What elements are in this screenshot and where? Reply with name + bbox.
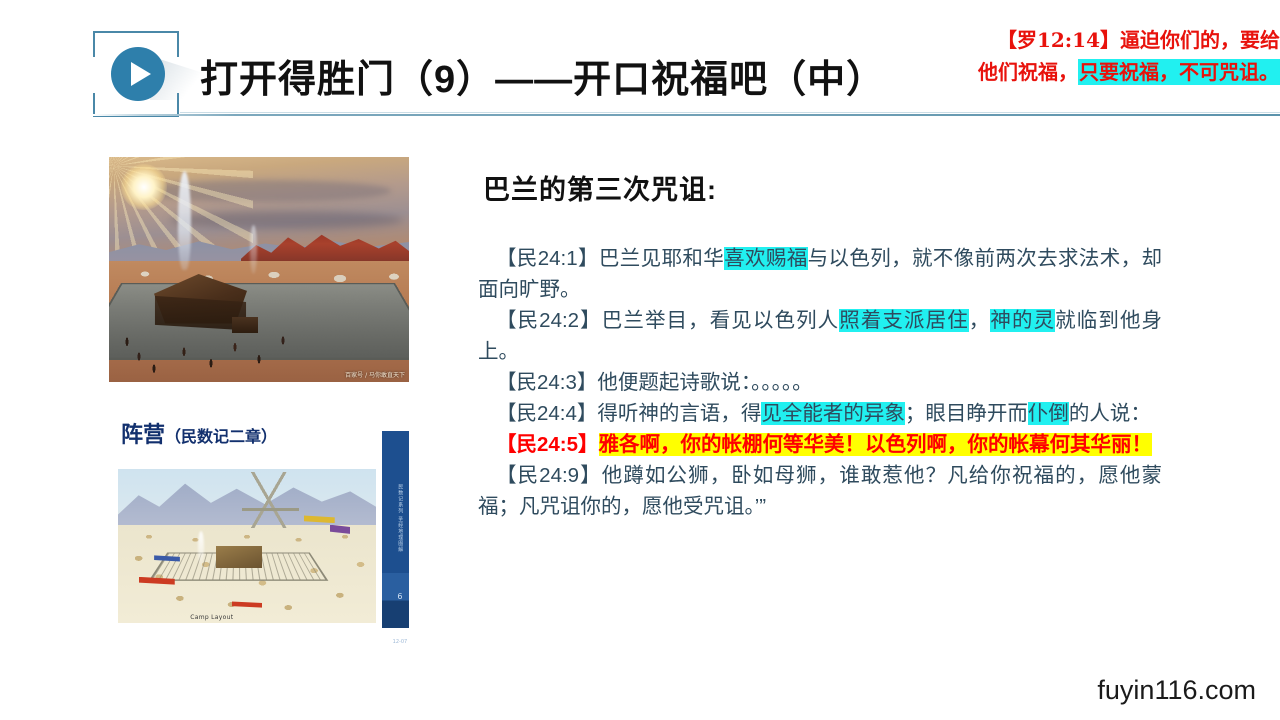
camp-slide-sidebar [382, 431, 409, 628]
header-verse: 【罗12:14】逼迫你们的，要给 他们祝福，只要祝福，不可咒诅。 [880, 24, 1280, 88]
camp-art-caption: Camp Layout [190, 614, 233, 621]
verse-reference: 【民24:9】 [496, 464, 602, 487]
verse-segment-highlight: 喜欢赐福 [724, 247, 807, 270]
play-icon[interactable] [111, 47, 165, 101]
verse-segment-highlight: 仆倒 [1028, 402, 1069, 425]
verse-num-24-2: 【民24:2】巴兰举目，看见以色列人照着支派居住，神的灵就临到他身上。 [478, 305, 1162, 367]
verse-num-24-3: 【民24:3】他便题起诗歌说：。。。。。 [478, 367, 1162, 398]
header-verse-reference: 【罗12:14】 [997, 28, 1120, 52]
verse-segment-highlight: 神的灵 [990, 309, 1055, 332]
camp-layout-drawing: Camp Layout [118, 469, 376, 623]
header-divider [93, 114, 1280, 116]
header-verse-line1-text: 逼迫你们的，要给 [1120, 28, 1280, 52]
verse-segment: ；眼目睁开而 [905, 402, 1028, 425]
verse-segment: 得听神的言语，得 [597, 402, 761, 425]
verse-segment-highlight: 照着支派居住 [839, 309, 969, 332]
painting-cloud-upper [133, 180, 391, 203]
camp-sidebar-text: 民数记系列 圣经地理图解 [397, 484, 404, 553]
scripture-block: 【民24:1】巴兰见耶和华喜欢赐福与以色列，就不像前两次去求法术，却面向旷野。 … [478, 243, 1162, 522]
header-verse-line-1: 【罗12:14】逼迫你们的，要给 [880, 24, 1280, 56]
verse-num-24-5: 【民24:5】雅各啊，你的帐棚何等华美！以色列啊，你的帐幕何其华丽！ [478, 429, 1162, 460]
verse-segment: ， [969, 309, 991, 332]
verse-segment-yellow-highlight: 雅各啊，你的帐棚何等华美！以色列啊，你的帐幕何其华丽！ [599, 433, 1153, 456]
camp-smoke-pillar [198, 531, 204, 565]
verse-segment: 巴兰见耶和华 [599, 247, 724, 270]
slide-root: 打开得胜门（9）——开口祝福吧（中） 【罗12:14】逼迫你们的，要给 他们祝福… [0, 0, 1280, 720]
play-triangle [131, 62, 151, 86]
verse-num-24-9: 【民24:9】他蹲如公狮，卧如母狮，谁敢惹他？凡给你祝福的，愿他蒙福；凡咒诅你的… [478, 460, 1162, 522]
camp-tabernacle [216, 546, 262, 568]
camp-slide-date: 12-07 [393, 639, 408, 645]
camp-slide-title-main: 阵营 [121, 422, 165, 448]
verse-reference: 【民24:3】 [496, 371, 597, 394]
page-title: 打开得胜门（9）——开口祝福吧（中） [200, 48, 885, 103]
verse-reference: 【民24:4】 [496, 402, 597, 425]
header-verse-highlight: 只要祝福，不可咒诅。 [1078, 59, 1280, 85]
verse-segment: 巴兰举目，看见以色列人 [602, 309, 839, 332]
camp-slide-title-sub: （民数记二章） [165, 427, 277, 446]
verse-segment: 的人说： [1069, 402, 1151, 425]
image-camp-layout-slide: 阵营（民数记二章） Camp Layout 民数记系列 圣经地理图解 6 12-… [109, 407, 409, 647]
header-divider-soft [180, 112, 1280, 113]
painting-altar-smoke [250, 225, 257, 275]
camp-slide-page-number: 6 [397, 592, 402, 601]
camp-slide-title: 阵营（民数记二章） [121, 417, 379, 449]
verse-reference: 【民24:1】 [496, 247, 599, 270]
verse-reference-highlighted: 【民24:5】 [496, 433, 599, 456]
verse-reference: 【民24:2】 [496, 309, 602, 332]
verse-segment-highlight: 见全能者的异象 [761, 402, 905, 425]
image-tabernacle-camp-painting: 百家号 / 马你敢直天下 [109, 157, 409, 382]
header-verse-line2-text: 他们祝福， [978, 60, 1078, 84]
section-heading: 巴兰的第三次咒诅: [483, 168, 717, 207]
verse-num-24-1: 【民24:1】巴兰见耶和华喜欢赐福与以色列，就不像前两次去求法术，却面向旷野。 [478, 243, 1162, 305]
painting-cloud-lower [169, 211, 403, 229]
header-verse-line-2: 他们祝福，只要祝福，不可咒诅。 [880, 56, 1280, 88]
verse-num-24-4: 【民24:4】得听神的言语，得见全能者的异象；眼目睁开而仆倒的人说： [478, 398, 1162, 429]
verse-segment: 他便题起诗歌说：。。。。。 [597, 371, 812, 394]
painting-pillar-of-cloud [178, 171, 191, 270]
image-credit-text: 百家号 / 马你敢直天下 [345, 370, 405, 379]
site-watermark: fuyin116.com [1097, 675, 1256, 706]
painting-sun [121, 164, 167, 210]
